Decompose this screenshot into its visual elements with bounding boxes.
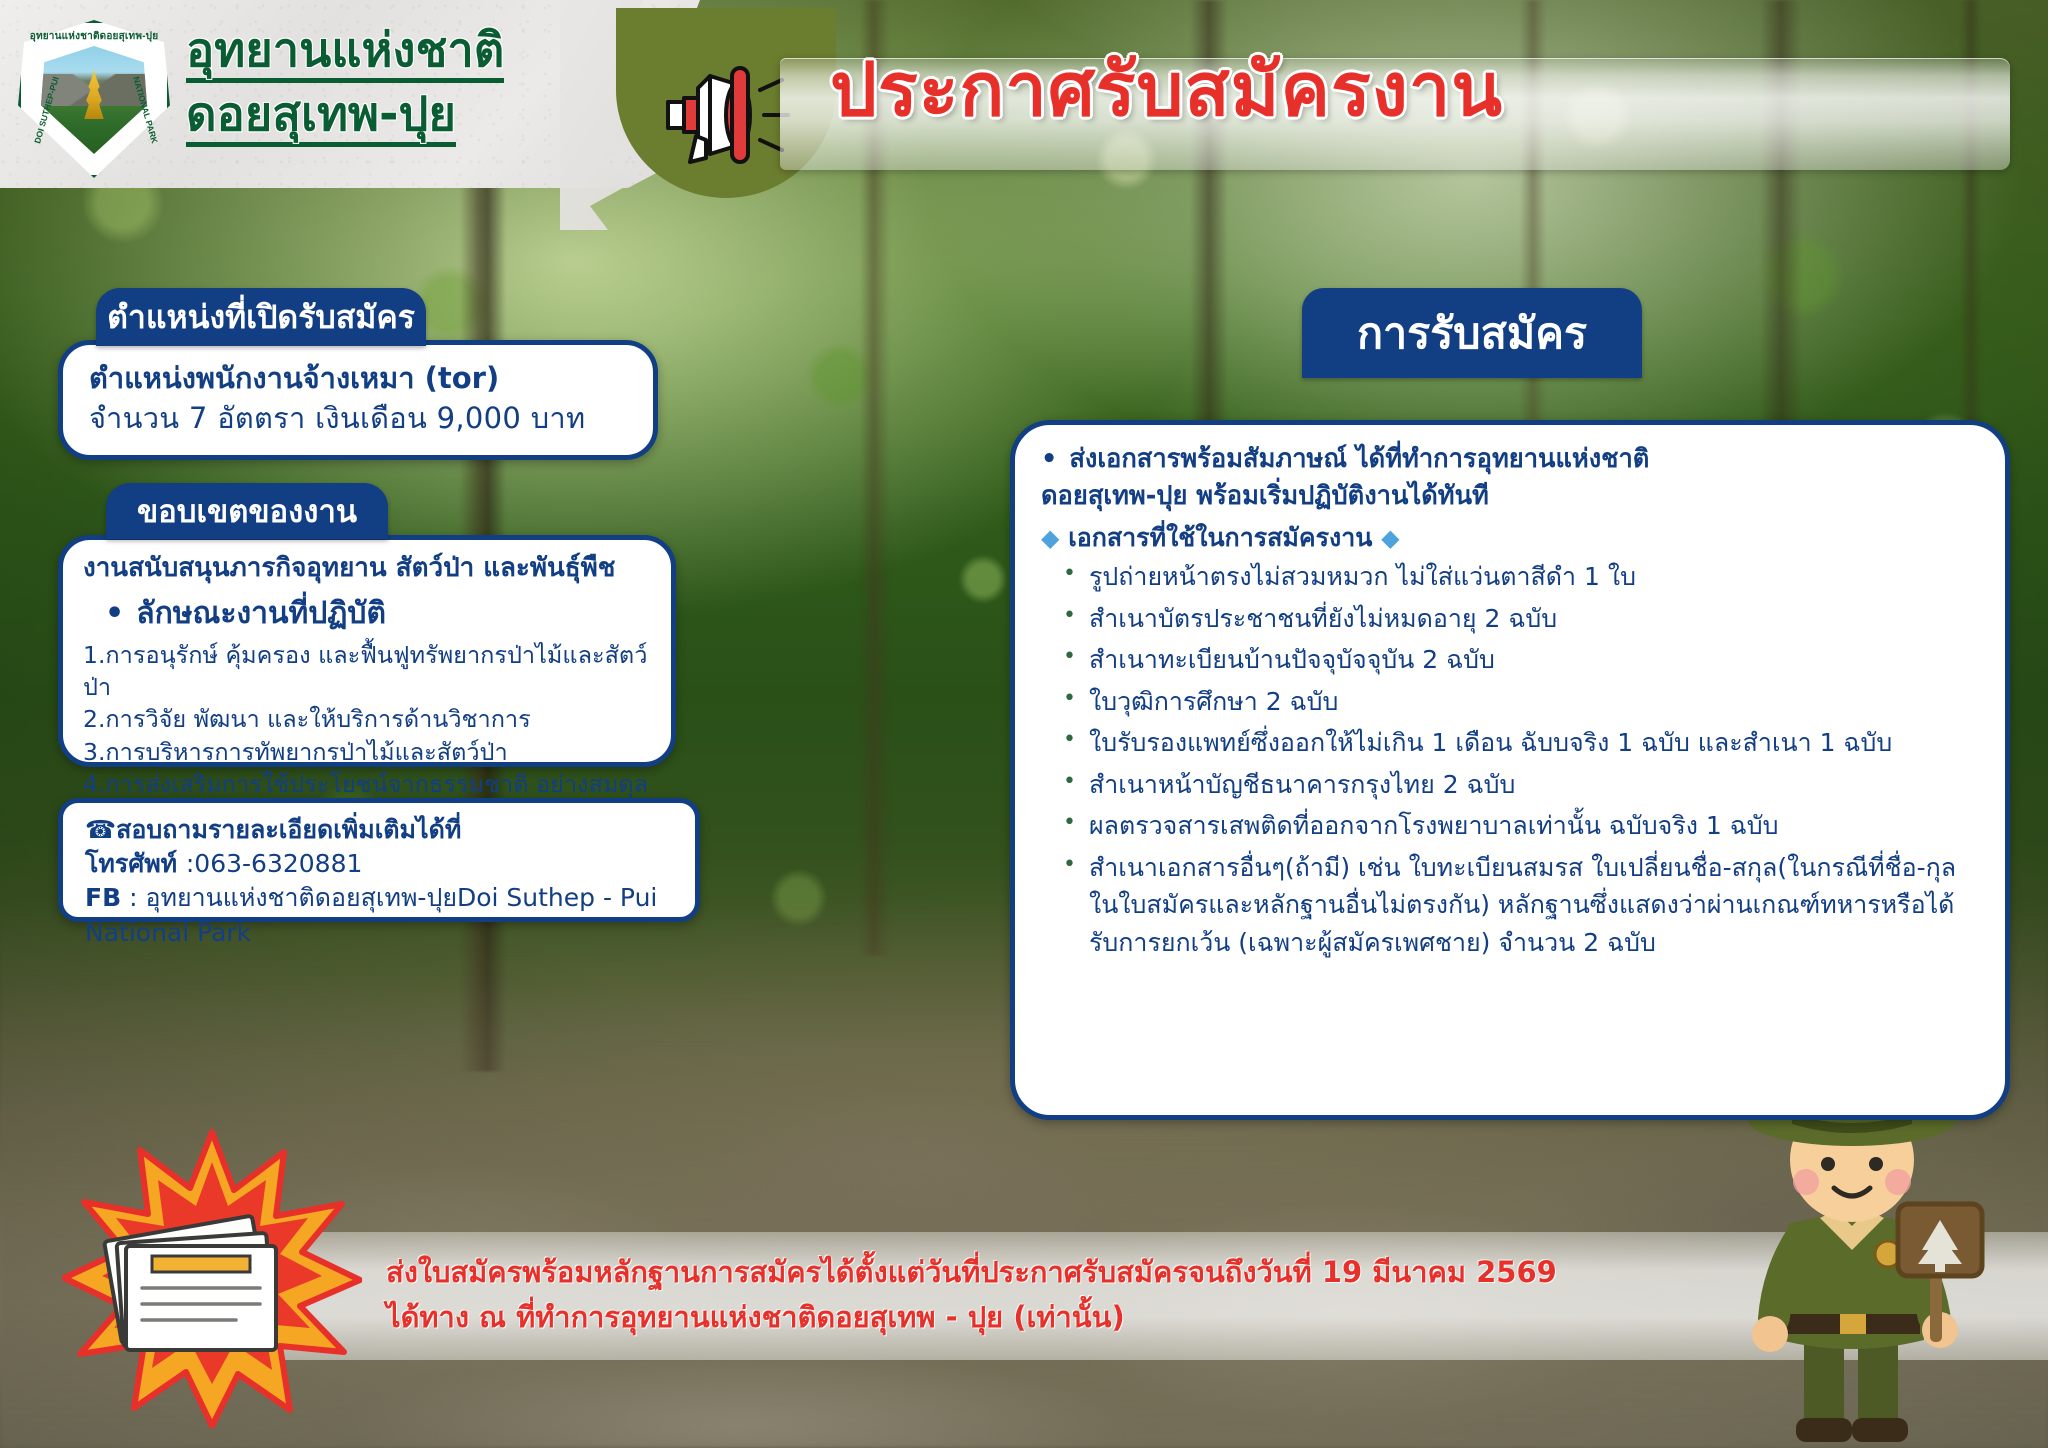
- contact-heading-row: ☎สอบถามรายละเอียดเพิ่มเติมได้ที่: [85, 813, 673, 847]
- scope-section-body: งานสนับสนุนภารกิจอุทยาน สัตว์ป่า และพันธ…: [58, 535, 676, 767]
- scope-item: 2.การวิจัย พัฒนา และให้บริการด้านวิชาการ: [83, 703, 649, 735]
- document-item: ใบวุฒิการศึกษา 2 ฉบับ: [1055, 683, 1979, 721]
- document-item: สำเนาหน้าบัญชีธนาคารกรุงไทย 2 ฉบับ: [1055, 766, 1979, 804]
- documents-list: รูปถ่ายหน้าตรงไม่สวมหมวก ไม่ใส่แว่นตาสีด…: [1055, 558, 1979, 961]
- apply-lead-line2: ดอยสุเทพ-ปุย พร้อมเริ่มปฏิบัติงานได้ทันท…: [1041, 478, 1979, 515]
- document-item: รูปถ่ายหน้าตรงไม่สวมหมวก ไม่ใส่แว่นตาสีด…: [1055, 558, 1979, 596]
- apply-lead: •ส่งเอกสารพร้อมสัมภาษณ์ ได้ที่ทำการอุทยา…: [1041, 441, 1979, 515]
- contact-phone-value[interactable]: :063-6320881: [186, 849, 363, 878]
- scope-item: 1.การอนุรักษ์ คุ้มครอง และฟื้นฟูทรัพยากร…: [83, 639, 649, 704]
- scope-title: งานสนับสนุนภารกิจอุทยาน สัตว์ป่า และพันธ…: [83, 552, 649, 585]
- bullet-icon: •: [1041, 444, 1057, 474]
- park-name-title: อุทยานแห่งชาติ ดอยสุเทพ-ปุย: [186, 26, 646, 154]
- document-stack-starburst-icon: [62, 1128, 362, 1428]
- document-item: สำเนาบัตรประชาชนที่ยังไม่หมดอายุ 2 ฉบับ: [1055, 600, 1979, 638]
- position-detail: จำนวน 7 อัตตรา เงินเดือน 9,000 บาท: [89, 398, 627, 439]
- document-item: ใบรับรองแพทย์ซึ่งออกให้ไม่เกิน 1 เดือน ฉ…: [1055, 724, 1979, 762]
- logo-ring-top-text: อุทยานแห่งชาติดอยสุเทพ-ปุย: [18, 29, 170, 44]
- diamond-left-icon: ◆: [1041, 524, 1059, 552]
- apply-section-body: •ส่งเอกสารพร้อมสัมภาษณ์ ได้ที่ทำการอุทยา…: [1010, 420, 2010, 1120]
- scope-subtitle: ลักษณะงานที่ปฏิบัติ: [105, 590, 649, 637]
- park-name-line1: อุทยานแห่งชาติ: [186, 26, 504, 83]
- documents-heading-row: ◆ เอกสารที่ใช้ในการสมัครงาน ◆: [1041, 519, 1979, 557]
- document-item: สำเนาเอกสารอื่นๆ(ถ้ามี) เช่น ใบทะเบียนสม…: [1055, 849, 1979, 962]
- telephone-icon: ☎: [85, 815, 116, 844]
- contact-facebook-row[interactable]: FB : อุทยานแห่งชาติดอยสุเทพ-ปุยDoi Suthe…: [85, 881, 673, 950]
- park-name-line2: ดอยสุเทพ-ปุย: [186, 90, 456, 147]
- apply-section-header: การรับสมัคร: [1302, 288, 1642, 378]
- contact-fb-label: FB: [85, 883, 121, 912]
- contact-fb-value[interactable]: : อุทยานแห่งชาติดอยสุเทพ-ปุยDoi Suthep -…: [85, 883, 657, 947]
- document-item: สำเนาทะเบียนบ้านปัจจุบัจจุบัน 2 ฉบับ: [1055, 641, 1979, 679]
- megaphone-icon: [650, 58, 800, 168]
- scope-section-header: ขอบเขตของงาน: [106, 483, 388, 539]
- position-title: ตำแหน่งพนักงานจ้างเหมา (tor): [89, 359, 627, 398]
- apply-lead-line1: ส่งเอกสารพร้อมสัมภาษณ์ ได้ที่ทำการอุทยาน…: [1069, 444, 1649, 474]
- contact-heading: สอบถามรายละเอียดเพิ่มเติมได้ที่: [116, 815, 461, 844]
- contact-section-body: ☎สอบถามรายละเอียดเพิ่มเติมได้ที่ โทรศัพท…: [58, 798, 700, 922]
- contact-phone-label: โทรศัพท์: [85, 849, 186, 878]
- position-section-body: ตำแหน่งพนักงานจ้างเหมา (tor) จำนวน 7 อัต…: [58, 340, 658, 460]
- footer-line1: ส่งใบสมัครพร้อมหลักฐานการสมัครได้ตั้งแต่…: [386, 1250, 1636, 1295]
- footer-text: ส่งใบสมัครพร้อมหลักฐานการสมัครได้ตั้งแต่…: [386, 1250, 1636, 1340]
- park-logo: อุทยานแห่งชาติดอยสุเทพ-ปุย DOI SUTHEP-PU…: [18, 20, 170, 178]
- poster-root: อุทยานแห่งชาติดอยสุเทพ-ปุย DOI SUTHEP-PU…: [0, 0, 2048, 1448]
- announcement-title: ประกาศรับสมัครงาน: [830, 44, 2010, 137]
- footer-line2: ได้ทาง ณ ที่ทำการอุทยานแห่งชาติดอยสุเทพ …: [386, 1295, 1636, 1340]
- diamond-right-icon: ◆: [1381, 524, 1399, 552]
- scope-item: 3.การบริหารการทัพยากรป่าไม้และสัตว์ป่า: [83, 736, 649, 768]
- documents-heading: เอกสารที่ใช้ในการสมัครงาน: [1068, 523, 1372, 552]
- contact-phone-row[interactable]: โทรศัพท์ :063-6320881: [85, 847, 673, 882]
- position-section-header: ตำแหน่งที่เปิดรับสมัคร: [96, 288, 426, 346]
- document-item: ผลตรวจสารเสพติดที่ออกจากโรงพยาบาลเท่านั้…: [1055, 807, 1979, 845]
